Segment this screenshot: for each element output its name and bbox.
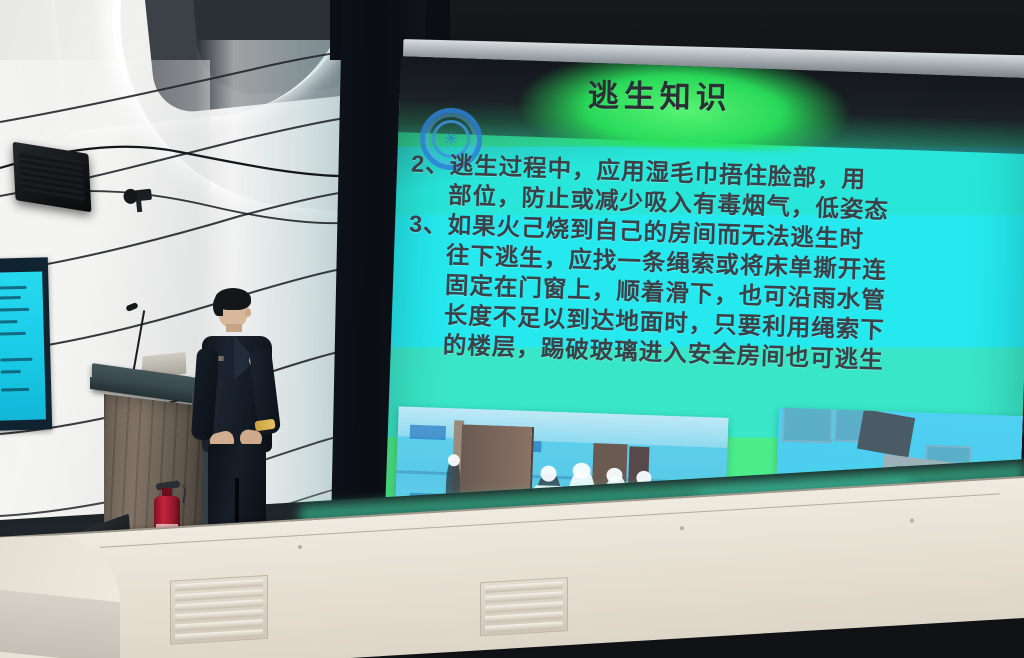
slide-body-text: 2、逃生过程中，应用湿毛巾捂住脸部，用 部位，防止或减少吸入有毒烟气，低姿态 3… (404, 149, 1024, 382)
house-floor (0, 590, 120, 658)
uniformed-presenter (196, 292, 278, 554)
slide-title: 逃生知识 (587, 70, 732, 118)
slide-line-number: 3、 (409, 211, 448, 238)
speaker-grill (19, 151, 85, 204)
photo-exit-sign (410, 425, 446, 440)
apron-fastener (298, 545, 302, 549)
presenter-hair-side (213, 296, 223, 316)
auditorium-scene: 逃生知识 ✳ 2、逃生过程中，应用湿毛巾捂住脸部，用 部位，防止或减少吸入有毒烟… (0, 0, 1024, 658)
lcd-screen (0, 271, 46, 420)
apron-fastener (680, 526, 684, 530)
ceiling-loudspeaker (13, 142, 92, 213)
emblem-star: ✳ (443, 130, 460, 150)
slide-line-number: 2、 (411, 151, 450, 178)
photo-window (782, 408, 833, 444)
photo-ceiling (398, 406, 729, 447)
apron-fastener (910, 519, 914, 523)
side-wall-lcd-display[interactable] (0, 257, 52, 430)
apron-vent-louver (170, 575, 268, 645)
ceiling-camera (123, 186, 155, 213)
presenter-ear (245, 308, 251, 317)
camera-mount (136, 200, 142, 212)
apron-vent-louver (480, 577, 568, 636)
